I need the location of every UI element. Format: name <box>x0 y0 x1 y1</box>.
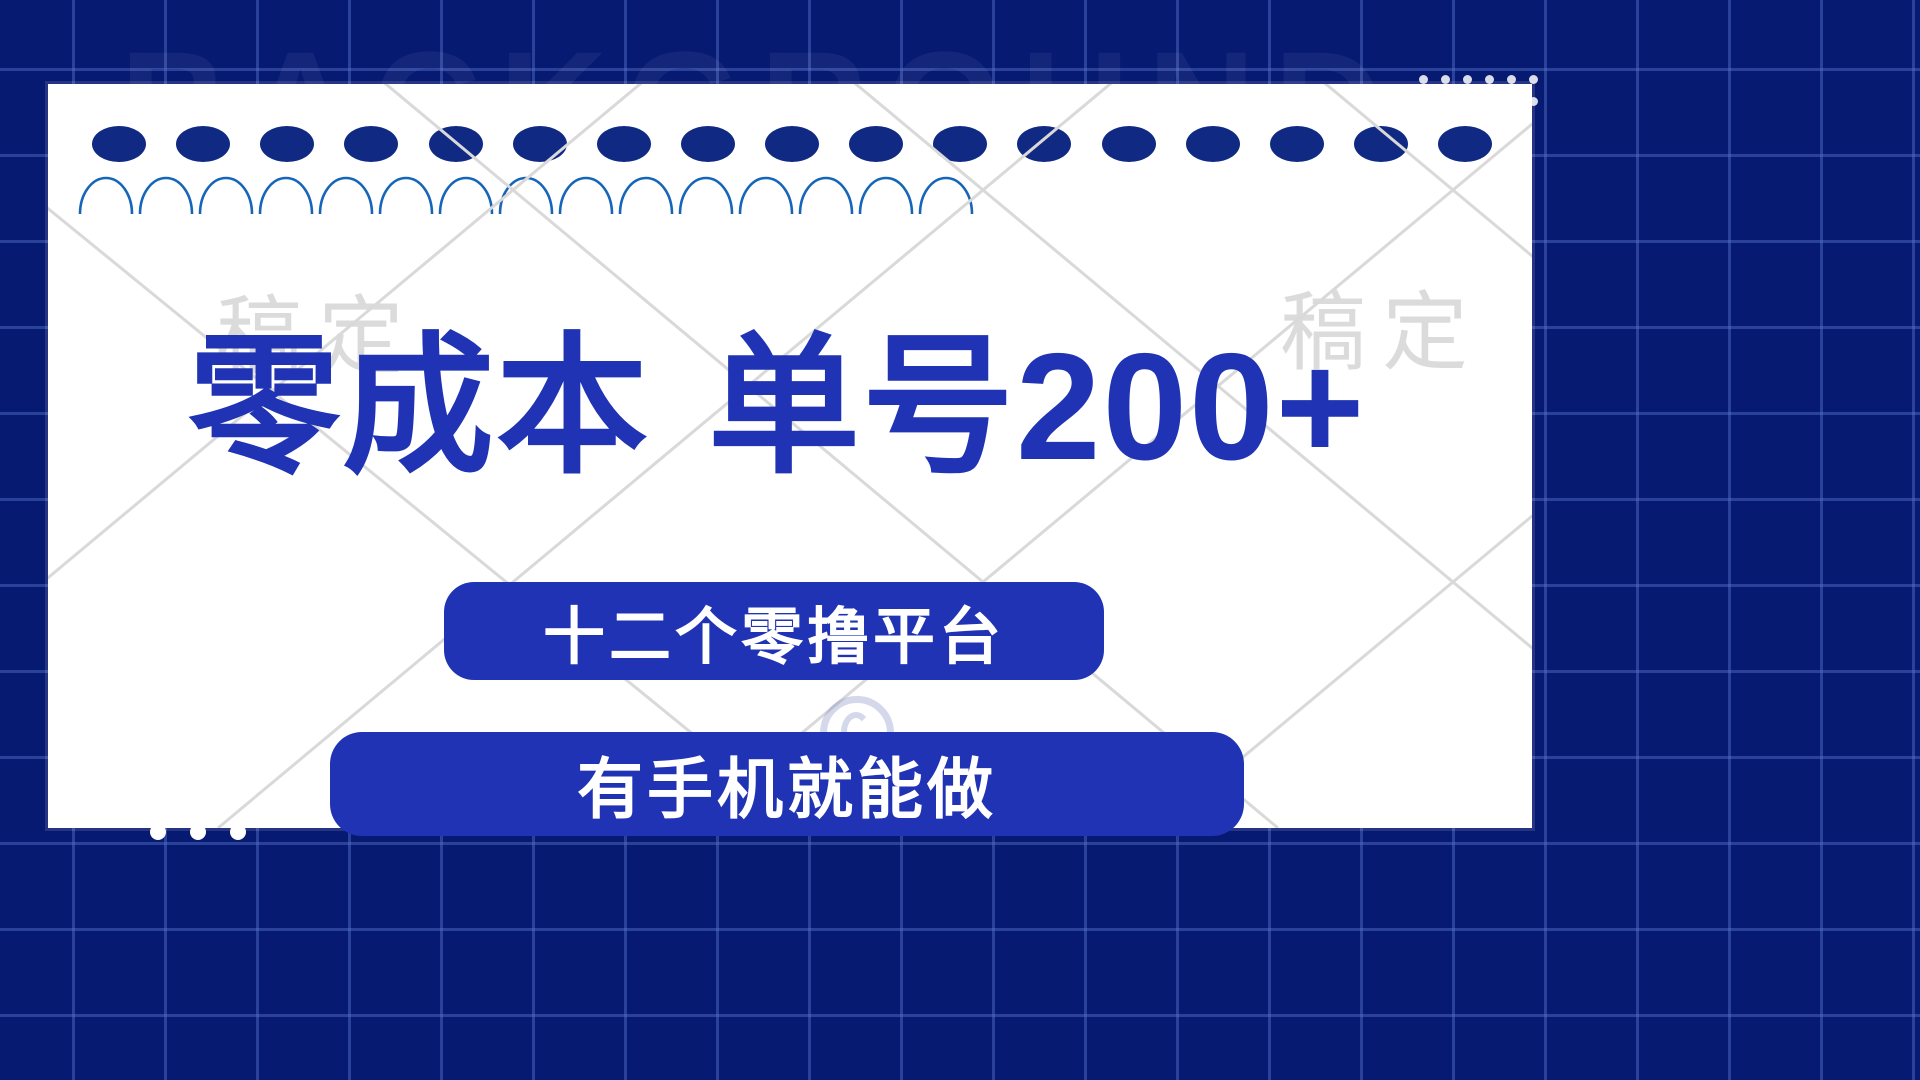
dot <box>1485 75 1494 84</box>
binding-hole-icon <box>1270 126 1324 162</box>
dot <box>1419 75 1428 84</box>
binding-hole-icon <box>765 126 819 162</box>
pill-platforms-label: 十二个零撸平台 <box>543 586 1005 676</box>
binding-hole-icon <box>344 126 398 162</box>
binding-holes <box>92 122 1492 166</box>
dot <box>1463 75 1472 84</box>
binding-hole-icon <box>1186 126 1240 162</box>
dot <box>1529 75 1538 84</box>
binding-hole-icon <box>1102 126 1156 162</box>
headline-part-1: 零成本 <box>188 322 650 492</box>
pill-platforms[interactable]: 十二个零撸平台 <box>444 582 1104 680</box>
binding-hole-icon <box>849 126 903 162</box>
notebook-card: 稿定 稿定 零成本单号200+ 十二个零撸平台 <box>48 84 1532 828</box>
dot <box>190 824 206 840</box>
dot <box>1507 75 1516 84</box>
binding-hole-icon <box>260 126 314 162</box>
pill-phone-only[interactable]: 有手机就能做 <box>330 732 1244 836</box>
poster-canvas: BACKGROUND <box>0 0 1920 1080</box>
binding-hole-icon <box>597 126 651 162</box>
spiral-coil-icon <box>74 140 974 216</box>
dot <box>1441 75 1450 84</box>
bottom-left-dots <box>150 824 246 840</box>
pill-phone-only-label: 有手机就能做 <box>577 736 997 832</box>
binding-hole-icon <box>513 126 567 162</box>
page-title: 零成本单号200+ <box>188 330 1488 485</box>
binding-hole-icon <box>92 126 146 162</box>
dot <box>150 824 166 840</box>
binding-hole-icon <box>176 126 230 162</box>
binding-hole-icon <box>933 126 987 162</box>
dot <box>230 824 246 840</box>
binding-hole-icon <box>1354 126 1408 162</box>
binding-hole-icon <box>681 126 735 162</box>
binding-hole-icon <box>1017 126 1071 162</box>
headline-part-2: 单号200+ <box>708 322 1366 492</box>
binding-hole-icon <box>429 126 483 162</box>
binding-hole-icon <box>1438 126 1492 162</box>
